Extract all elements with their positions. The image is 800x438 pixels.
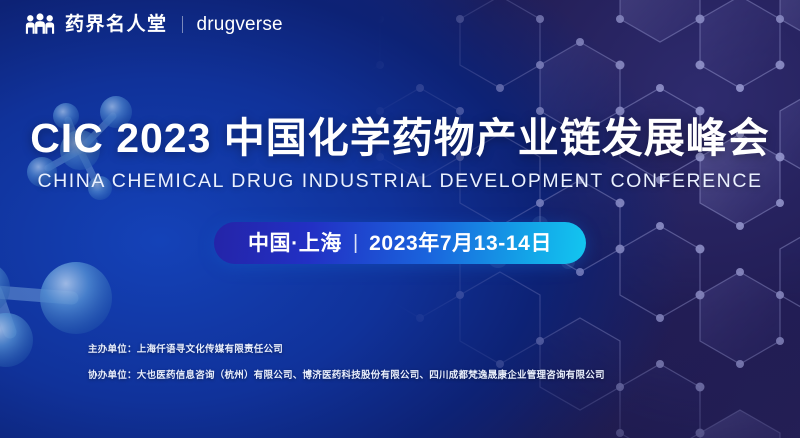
page-subtitle: CHINA CHEMICAL DRUG INDUSTRIAL DEVELOPME… bbox=[0, 171, 800, 192]
date-location-badge: 中国·上海 | 2023年7月13-14日 bbox=[214, 222, 586, 264]
host-organizer-line: 主办单位：上海仟语寻文化传媒有限责任公司 bbox=[88, 345, 605, 355]
co-organizer-line: 协办单位：大也医药信息咨询（杭州）有限公司、博济医药科技股份有限公司、四川成都梵… bbox=[88, 371, 605, 381]
people-group-icon bbox=[25, 13, 55, 35]
pill-separator: | bbox=[353, 233, 358, 253]
logo-bar: 药界名人堂 drugverse bbox=[25, 13, 283, 35]
conference-banner: 药界名人堂 drugverse CIC 2023 中国化学药物产业链发展峰会 C… bbox=[0, 0, 800, 438]
page-title: CIC 2023 中国化学药物产业链发展峰会 bbox=[0, 116, 800, 162]
date-text: 2023年7月13-14日 bbox=[369, 233, 552, 254]
title-block: CIC 2023 中国化学药物产业链发展峰会 CHINA CHEMICAL DR… bbox=[0, 116, 800, 192]
brand-name-cn: 药界名人堂 bbox=[65, 15, 168, 34]
date-pill-wrapper: 中国·上海 | 2023年7月13-14日 bbox=[0, 222, 800, 264]
location-text: 中国·上海 bbox=[248, 233, 342, 254]
brand-name-en: drugverse bbox=[197, 15, 283, 34]
logo-divider bbox=[182, 16, 183, 33]
organizers-block: 主办单位：上海仟语寻文化传媒有限责任公司 协办单位：大也医药信息咨询（杭州）有限… bbox=[88, 345, 605, 380]
